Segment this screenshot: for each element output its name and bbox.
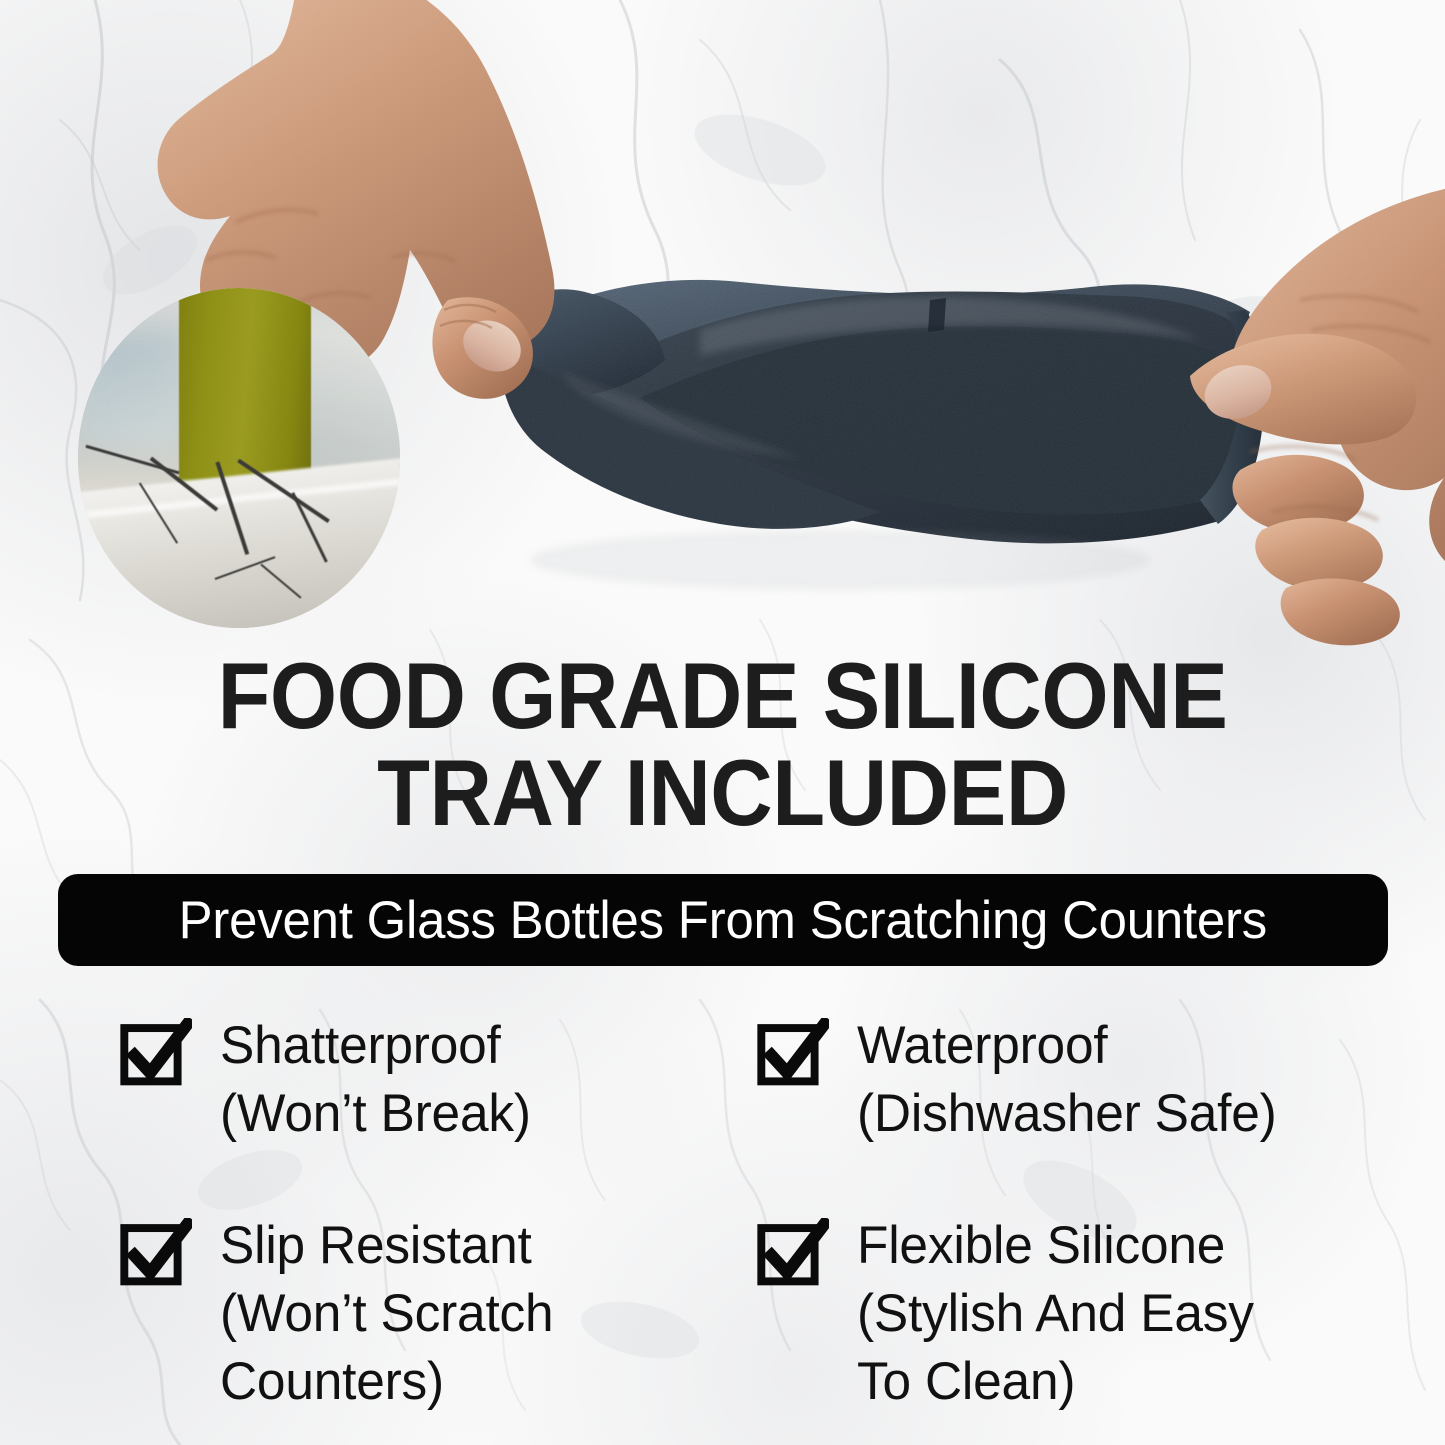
feature-list: Shatterproof (Won’t Break) Waterproof (D… [120,1012,1400,1442]
feature-label: Waterproof (Dishwasher Safe) [857,1012,1277,1148]
right-curled-fingers [1232,455,1399,646]
feature-label: Slip Resistant (Won’t Scratch Counters) [220,1212,553,1415]
tray-mold-notch [928,298,946,332]
feature-label: Flexible Silicone (Stylish And Easy To C… [857,1212,1254,1415]
product-infographic: FOOD GRADE SILICONE TRAY INCLUDED Preven… [0,0,1445,1445]
feature-item-shatterproof: Shatterproof (Won’t Break) [120,1012,757,1212]
feature-item-slip-resistant: Slip Resistant (Won’t Scratch Counters) [120,1212,757,1442]
checkbox-checked-icon [757,1218,829,1290]
page-title: FOOD GRADE SILICONE TRAY INCLUDED [58,648,1387,842]
feature-label: Shatterproof (Won’t Break) [220,1012,531,1148]
checkbox-checked-icon [120,1218,192,1290]
tray-shadow [530,530,1150,590]
feature-item-waterproof: Waterproof (Dishwasher Safe) [757,1012,1394,1212]
checkbox-checked-icon [120,1018,192,1090]
checkbox-checked-icon [757,1018,829,1090]
inset-kitchen-blur-left [78,329,187,451]
subtitle-banner: Prevent Glass Bottles From Scratching Co… [58,874,1388,966]
inset-photo-olive-oil-bottle-on-cracked-counter [78,288,400,628]
subtitle-banner-text: Prevent Glass Bottles From Scratching Co… [179,890,1267,951]
feature-item-flexible-silicone: Flexible Silicone (Stylish And Easy To C… [757,1212,1394,1442]
right-hand [1190,180,1445,645]
